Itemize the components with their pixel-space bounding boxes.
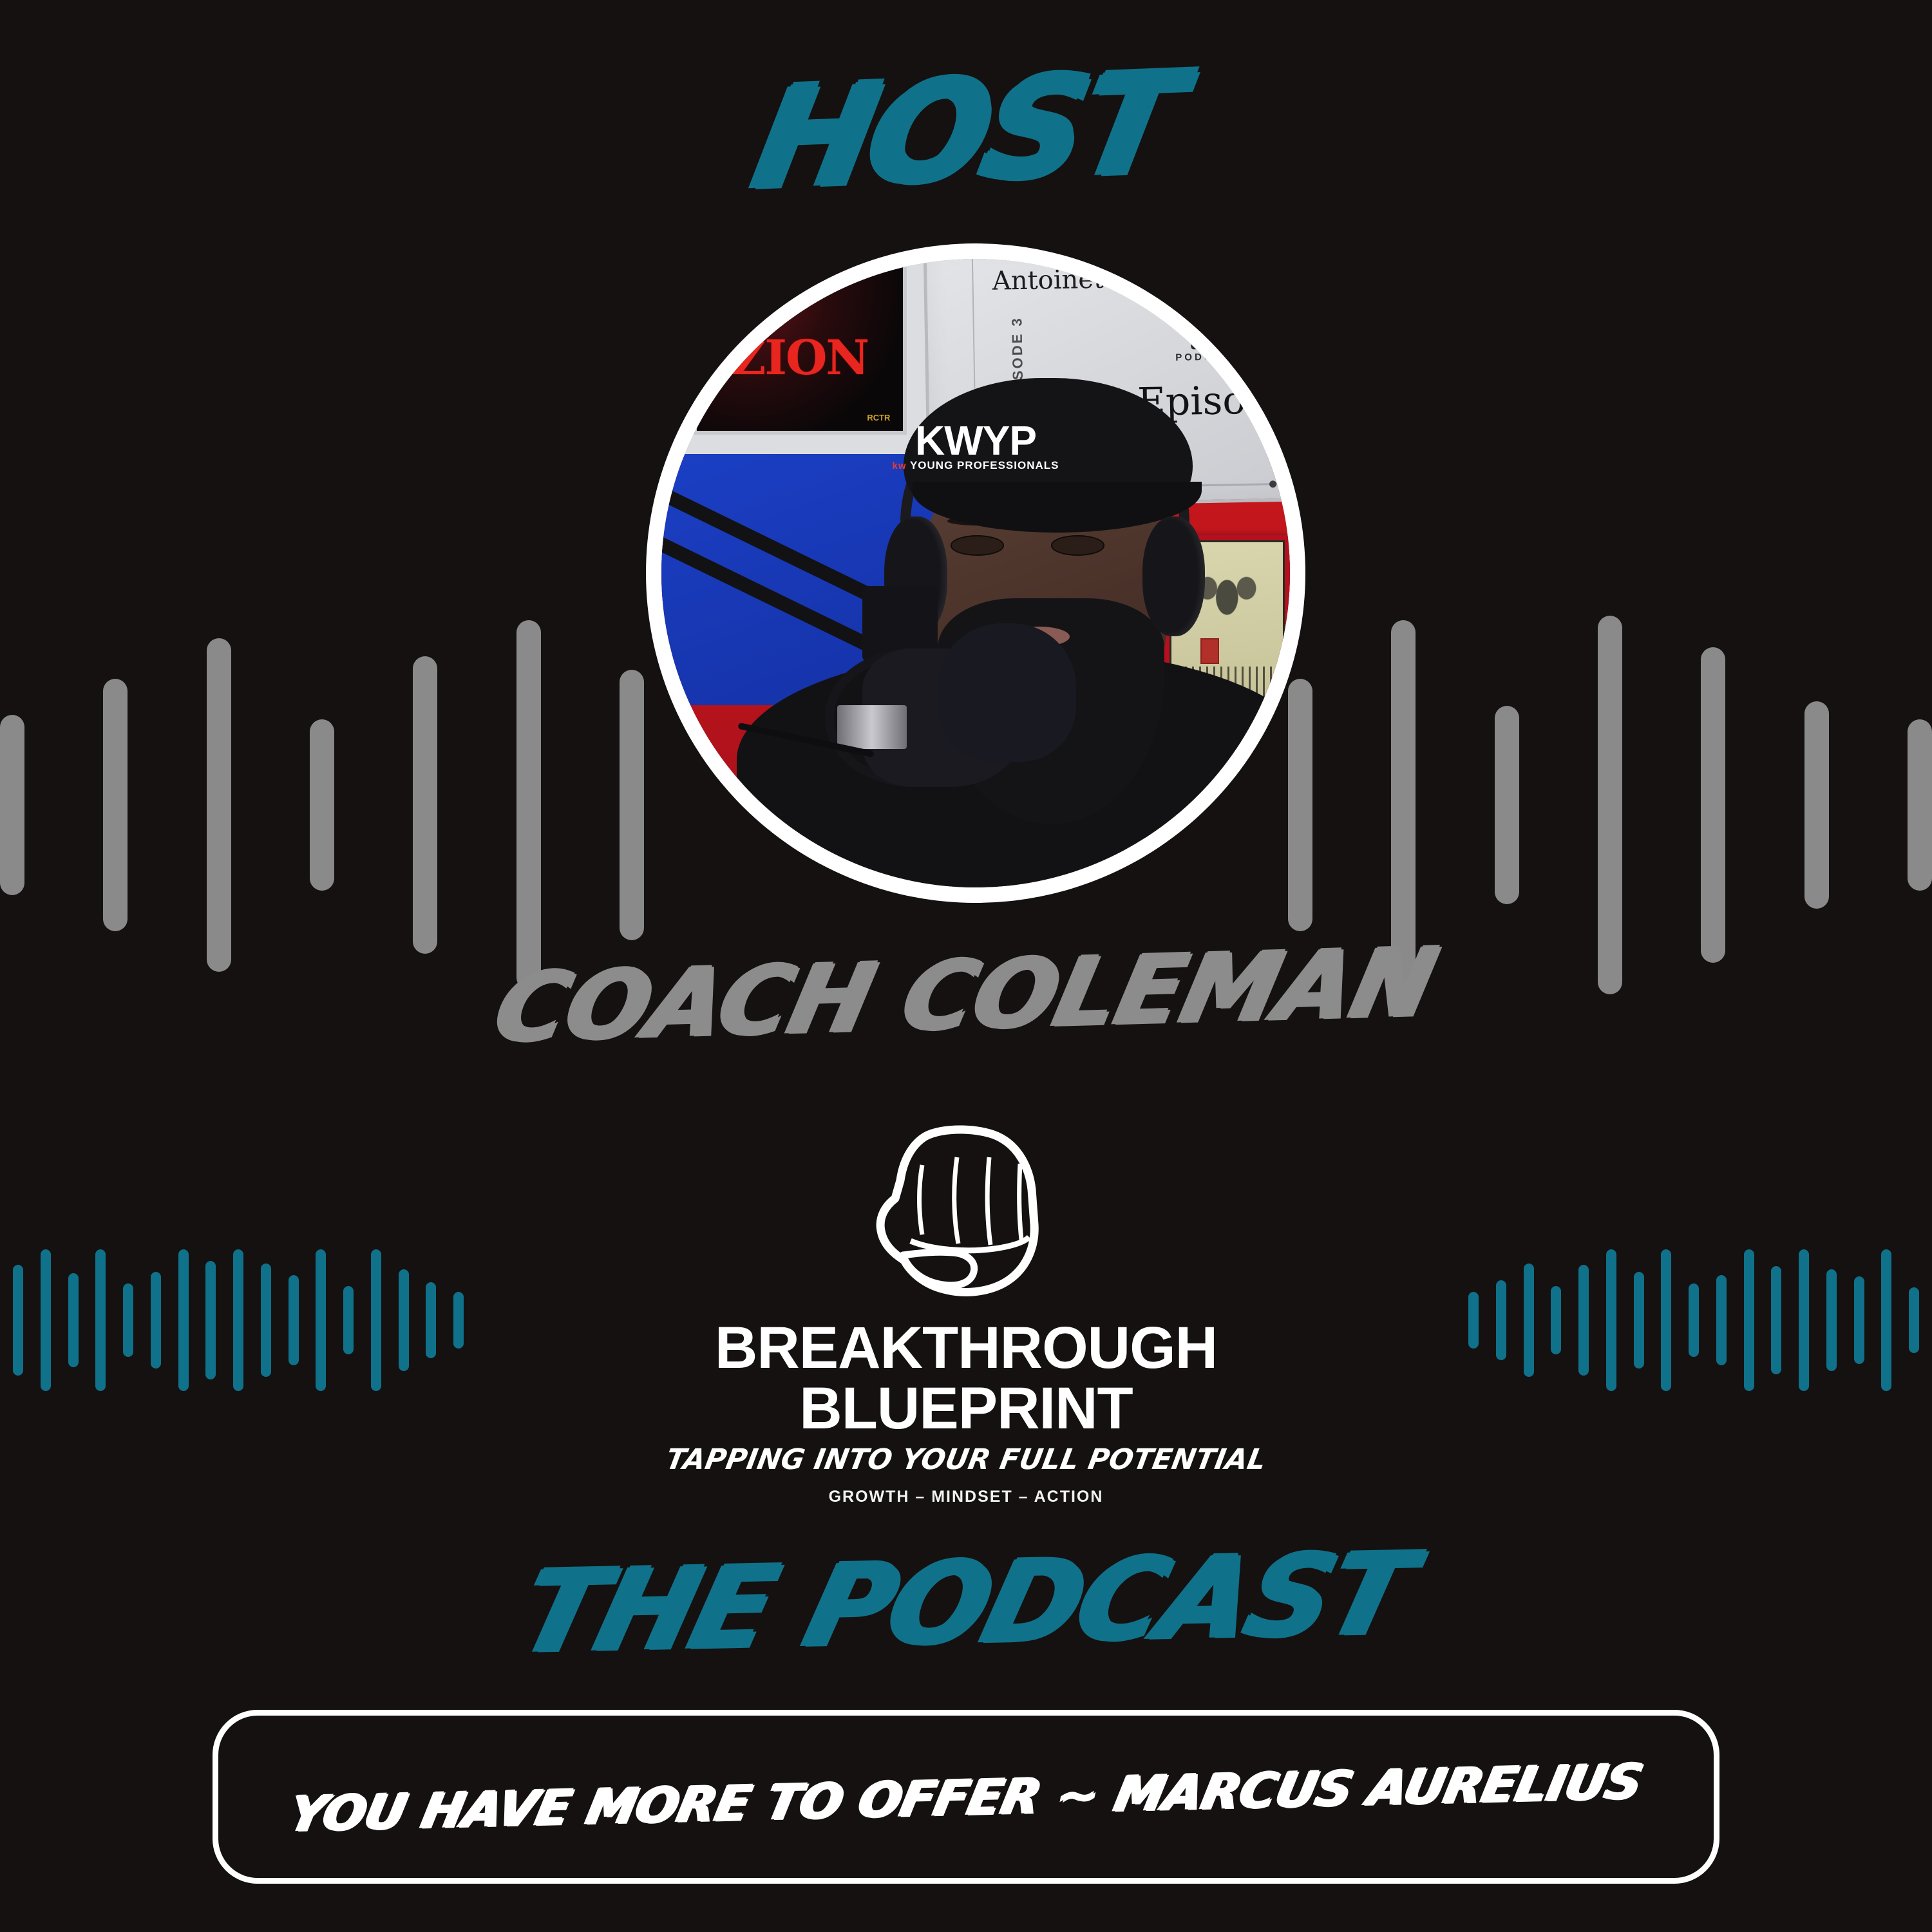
host-label: HOST xyxy=(0,24,1932,236)
wave-bar xyxy=(1288,679,1312,931)
brand-line-2: BLUEPRINT xyxy=(0,1379,1932,1439)
wave-bar xyxy=(310,719,334,891)
podcast-cover-poster: HOST ZION RCTR Antoinette Perez S:1 EPIS… xyxy=(0,0,1932,1932)
wave-bar xyxy=(0,715,24,895)
boom-arm-upper xyxy=(661,475,889,609)
host-portrait-photo: ZION RCTR Antoinette Perez S:1 EPISODE 3… xyxy=(661,259,1290,887)
wave-bar xyxy=(516,620,541,990)
cap-logo-kw: kw xyxy=(893,460,907,471)
wave-bar xyxy=(1495,706,1519,904)
wave-bar xyxy=(1701,647,1725,963)
microphone-head xyxy=(938,623,1076,762)
quote-container: YOU HAVE MORE TO OFFER ~ MARCUS AURELIUS xyxy=(213,1710,1719,1884)
wave-bar xyxy=(1908,719,1932,891)
cap-logo-subtext: YOUNG PROFESSIONALS xyxy=(910,459,1059,471)
podcast-label: THE PODCAST xyxy=(0,1526,1932,1680)
cap-logo-sub: kw YOUNG PROFESSIONALS xyxy=(661,459,1290,472)
host-portrait-circle: ZION RCTR Antoinette Perez S:1 EPISODE 3… xyxy=(647,245,1304,902)
host-person: KWYP kw YOUNG PROFESSIONALS xyxy=(661,259,1290,887)
wave-bar xyxy=(620,670,644,940)
brand-subline: GROWTH – MINDSET – ACTION xyxy=(0,1488,1932,1506)
microphone-connector xyxy=(837,705,906,749)
person-eye-right xyxy=(1051,535,1104,555)
wave-bar xyxy=(1804,701,1829,909)
headphone-earcup-right xyxy=(1142,516,1206,636)
cap-logo-main: KWYP xyxy=(661,422,1290,460)
brand-logo-block: BREAKTHROUGH BLUEPRINT TAPPING INTO YOUR… xyxy=(0,1117,1932,1506)
quote-text: YOU HAVE MORE TO OFFER ~ MARCUS AURELIUS xyxy=(285,1752,1648,1842)
wave-bar xyxy=(207,638,231,972)
brand-line-1: BREAKTHROUGH xyxy=(0,1318,1932,1379)
wave-bar xyxy=(413,656,437,954)
person-eye-left xyxy=(951,535,1004,555)
brand-tagline: TAPPING INTO YOUR FULL POTENTIAL xyxy=(0,1443,1932,1476)
wave-bar xyxy=(103,679,128,931)
fist-icon xyxy=(863,1117,1069,1311)
cap-logo: KWYP kw YOUNG PROFESSIONALS xyxy=(661,422,1290,473)
